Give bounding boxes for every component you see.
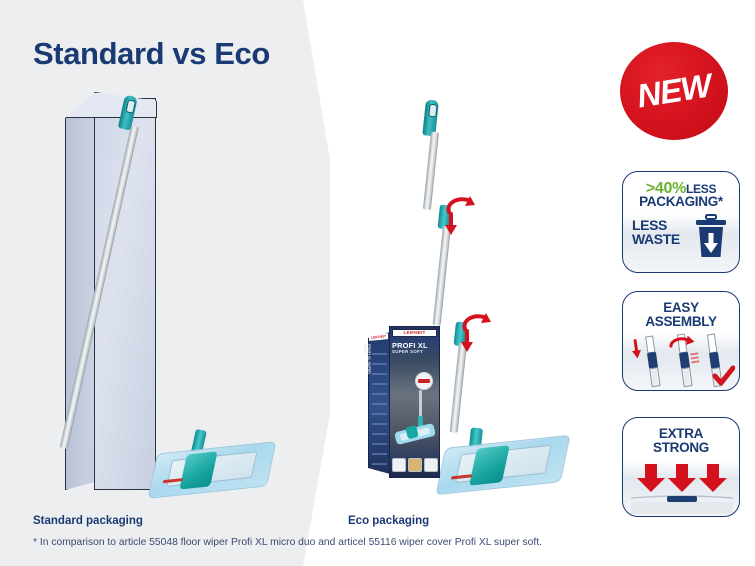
eco-pole-middle [433, 226, 451, 326]
packaging-badge-line2: PACKAGING* [623, 195, 739, 209]
eco-pole-lower [450, 343, 467, 433]
carton-side-panel [368, 332, 390, 474]
carton-badge-mid [408, 458, 422, 472]
less-waste-text: LESS WASTE [632, 218, 688, 247]
carton-badge-xl [392, 458, 406, 472]
carton-brand-side-text: LEIFHEIT [371, 334, 386, 339]
trash-bin-down-arrow-icon [693, 214, 729, 260]
new-badge: NEW [620, 42, 728, 140]
carton-product-illustration [393, 388, 438, 446]
assembly-arrow-lower [458, 313, 492, 353]
eco-mop-grip [422, 99, 439, 136]
waste-line1: LESS [632, 218, 688, 232]
mop-pole [60, 125, 139, 449]
eco-mop-head [438, 436, 568, 495]
strong-badge-line2: STRONG [623, 441, 739, 455]
standard-packaging-caption: Standard packaging [33, 515, 143, 527]
carton-badge-right [424, 458, 438, 472]
three-down-arrows-icon [631, 462, 733, 514]
infographic-stage: Standard vs Eco [0, 0, 755, 566]
mop-head [150, 442, 274, 498]
pole-assembly-steps-icon [629, 332, 735, 388]
eco-pole-upper [423, 132, 439, 210]
assembly-arrow-upper [442, 196, 476, 236]
carton-product-subtitle: SUPER SOFT [392, 350, 438, 354]
standard-mop [0, 0, 330, 520]
new-badge-label: NEW [613, 34, 735, 148]
assembly-badge-line2: ASSEMBLY [623, 315, 739, 329]
carton-feature-badges [392, 458, 438, 472]
eco-packaging-caption: Eco packaging [348, 515, 429, 527]
grip-hanging-hole [125, 99, 136, 113]
easy-assembly-badge: EASY ASSEMBLY [622, 291, 740, 391]
less-packaging-badge: >40%LESS PACKAGING* LESS WASTE [622, 171, 740, 273]
eco-packaging-carton: LEIFHEIT PROFI XL SUPER SOFT LEIFHEIT PR… [368, 322, 440, 480]
carton-brand-text: LEIFHEIT [403, 331, 425, 336]
eco-grip-hanging-hole [428, 104, 437, 118]
carton-spine-text: PROFI XL SUPER SOFT [362, 344, 370, 380]
extra-strong-badge: EXTRA STRONG [622, 417, 740, 517]
waste-line2: WASTE [632, 232, 688, 246]
footnote-text: * In comparison to article 55048 floor w… [33, 537, 542, 548]
carton-brand-logo: LEIFHEIT [392, 329, 437, 337]
